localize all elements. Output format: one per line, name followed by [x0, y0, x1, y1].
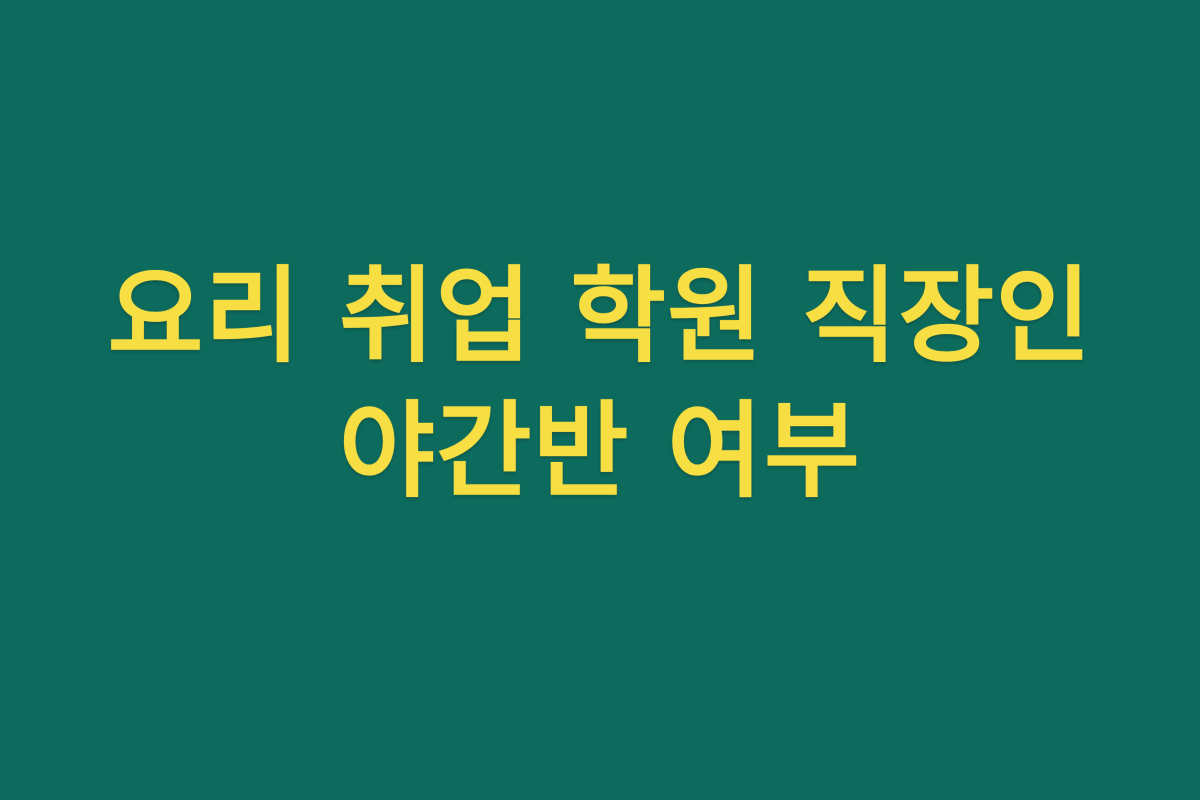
text-banner: 요리 취업 학원 직장인 야간반 여부 [0, 0, 1200, 800]
banner-content: 요리 취업 학원 직장인 야간반 여부 [0, 249, 1200, 519]
headline: 요리 취업 학원 직장인 야간반 여부 [108, 249, 1093, 519]
headline-line-2: 야간반 여부 [108, 384, 1093, 519]
headline-line-1: 요리 취업 학원 직장인 [108, 249, 1093, 384]
